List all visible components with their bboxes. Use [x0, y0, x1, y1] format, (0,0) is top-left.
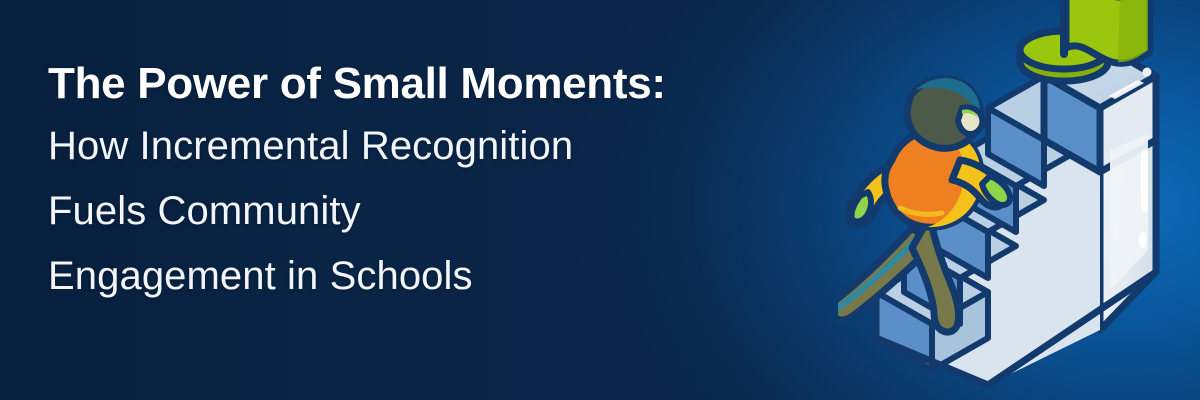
staircase-illustration: [838, 0, 1200, 400]
subtitle-line-1: How Incremental Recognition: [48, 126, 878, 166]
headline-text-block: The Power of Small Moments: How Incremen…: [48, 62, 878, 296]
page-title: The Power of Small Moments:: [48, 62, 878, 106]
blog-header-banner: The Power of Small Moments: How Incremen…: [0, 0, 1200, 400]
subtitle-line-2: Fuels Community: [48, 191, 878, 231]
subtitle-line-3: Engagement in Schools: [48, 256, 878, 296]
